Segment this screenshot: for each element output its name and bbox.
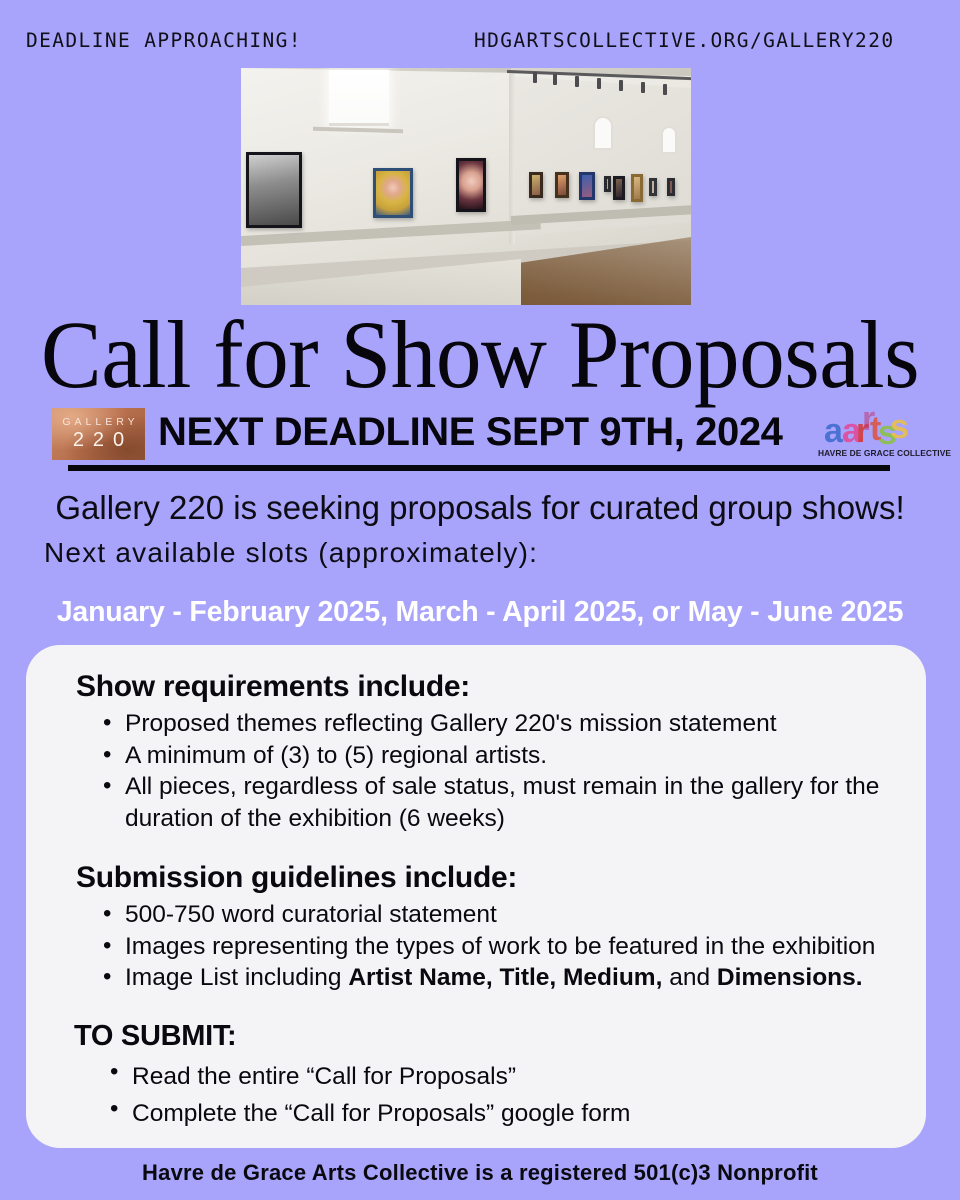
list-item-image-list: Image List including Artist Name, Title,… (99, 962, 900, 994)
photo-artwork-frame (667, 178, 675, 196)
to-submit-heading: TO SUBMIT: (74, 1016, 900, 1056)
deadline-approaching-label: DEADLINE APPROACHING! (26, 29, 302, 52)
guidelines-heading: Submission guidelines include: (76, 858, 900, 898)
guidelines-list: 500-750 word curatorial statement Images… (52, 899, 900, 994)
photo-artwork-frame (579, 172, 595, 200)
website-url-label: HDGARTSCOLLECTIVE.ORG/GALLERY220 (474, 29, 894, 52)
photo-artwork-frame (456, 158, 486, 212)
photo-spotlight (619, 80, 623, 91)
spacer (52, 994, 900, 1016)
list-item: Proposed themes reflecting Gallery 220's… (99, 708, 900, 740)
svg-text:s: s (890, 408, 909, 446)
details-card: Show requirements include: Proposed them… (26, 645, 926, 1148)
submit-steps-list: Read the entire “Call for Proposals” Com… (52, 1057, 900, 1131)
list-item: 500-750 word curatorial statement (99, 899, 900, 931)
photo-artwork-frame (529, 172, 543, 198)
list-item: Images representing the types of work to… (99, 931, 900, 963)
photo-spotlight (533, 72, 537, 83)
list-item: Complete the “Call for Proposals” google… (106, 1094, 900, 1131)
spacer (52, 834, 900, 858)
seeking-proposals-text: Gallery 220 is seeking proposals for cur… (0, 486, 960, 529)
photo-spotlight (597, 78, 601, 89)
photo-spotlight (575, 76, 579, 87)
gallery-220-logo-word: GALLERY (58, 416, 138, 429)
photo-artwork-frame (649, 178, 657, 196)
photo-artwork-frame (631, 174, 643, 202)
gallery-220-logo-number: 220 (64, 429, 133, 452)
list-item: A minimum of (3) to (5) regional artists… (99, 740, 900, 772)
poster-canvas: DEADLINE APPROACHING! HDGARTSCOLLECTIVE.… (0, 0, 960, 1200)
photo-window (329, 70, 389, 126)
gallery-220-logo: GALLERY 220 (52, 408, 145, 460)
available-slots-label: Next available slots (approximately): (44, 534, 538, 572)
photo-artwork-frame (373, 168, 413, 218)
list-item: Read the entire “Call for Proposals” (106, 1057, 900, 1094)
photo-spotlight (553, 74, 557, 85)
list-item: All pieces, regardless of sale status, m… (99, 771, 900, 834)
photo-arched-window (661, 126, 677, 154)
divider-rule (68, 465, 890, 471)
gallery-interior-photo (241, 68, 691, 305)
hdg-arts-collective-logo: a a r t s s r HAVRE DE GRACE COLLECTIVE (818, 408, 940, 462)
nonprofit-footer: Havre de Grace Arts Collective is a regi… (0, 1158, 960, 1188)
requirements-list: Proposed themes reflecting Gallery 220's… (52, 708, 900, 834)
svg-text:a: a (824, 412, 844, 450)
next-deadline-label: NEXT DEADLINE SEPT 9TH, 2024 (158, 404, 783, 460)
page-title: Call for Show Proposals (24, 307, 936, 403)
requirements-heading: Show requirements include: (76, 667, 900, 707)
arts-wordmark-icon: a a r t s s r (818, 408, 940, 450)
image-list-bold-2: Dimensions. (717, 964, 863, 991)
photo-artwork-frame (613, 176, 625, 200)
image-list-bold-1: Artist Name, Title, Medium, (348, 964, 662, 991)
topbar: DEADLINE APPROACHING! HDGARTSCOLLECTIVE.… (0, 25, 960, 55)
image-list-prefix: Image List including (125, 964, 348, 991)
photo-arched-window (593, 116, 613, 150)
photo-spotlight (663, 84, 667, 95)
image-list-middle: and (662, 964, 717, 991)
available-dates-text: January - February 2025, March - April 2… (0, 593, 960, 631)
deadline-row: GALLERY 220 NEXT DEADLINE SEPT 9TH, 2024… (0, 404, 960, 462)
photo-artwork-frame (555, 172, 569, 198)
photo-artwork-frame (604, 176, 611, 192)
photo-floor-near (241, 259, 521, 305)
hdg-logo-subtitle: HAVRE DE GRACE COLLECTIVE (818, 448, 940, 458)
photo-artwork-frame (246, 152, 302, 228)
photo-spotlight (641, 82, 645, 93)
svg-text:r: r (862, 408, 875, 438)
